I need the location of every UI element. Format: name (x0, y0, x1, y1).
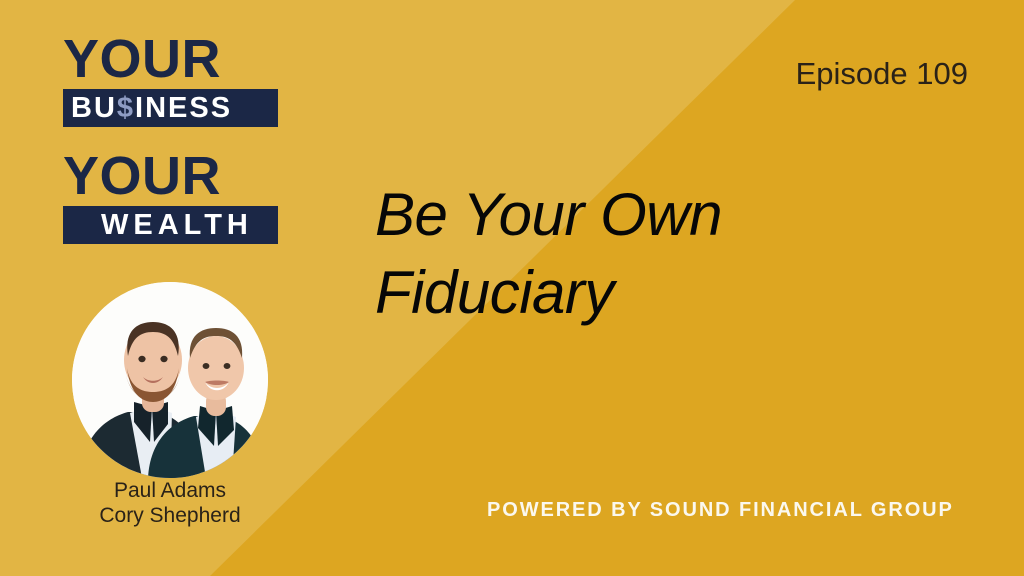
episode-title: Be Your Own Fiduciary (375, 176, 935, 332)
brand-bar-business-pre: BU (71, 92, 117, 124)
episode-title-line-2: Fiduciary (375, 254, 935, 332)
hosts-portrait-image (72, 282, 268, 478)
footer-attribution: POWERED BY SOUND FINANCIAL GROUP (487, 499, 954, 522)
brand-bar-wealth-text: WEALTH (101, 209, 253, 241)
brand-word-your-top: YOUR (63, 32, 278, 86)
episode-number-label: Episode 109 (796, 56, 968, 92)
brand-bar-wealth: WEALTH (63, 206, 278, 244)
brand-logo-business-block: YOUR BU$INESS (63, 32, 278, 127)
host-name-primary: Paul Adams (72, 478, 268, 503)
episode-title-line-1: Be Your Own (375, 176, 935, 254)
brand-bar-business-post: INESS (135, 92, 232, 124)
brand-logo: YOUR BU$INESS YOUR WEALTH (63, 32, 278, 244)
brand-bar-business: BU$INESS (63, 89, 278, 127)
brand-word-your-bottom: YOUR (63, 149, 278, 203)
dollar-sign-icon: $ (117, 92, 135, 124)
brand-logo-wealth-block: YOUR WEALTH (63, 149, 278, 244)
host-names: Paul Adams Cory Shepherd (72, 478, 268, 528)
host-name-secondary: Cory Shepherd (72, 503, 268, 528)
hosts-portrait (72, 282, 268, 478)
podcast-episode-cover: YOUR BU$INESS YOUR WEALTH (0, 0, 1024, 576)
